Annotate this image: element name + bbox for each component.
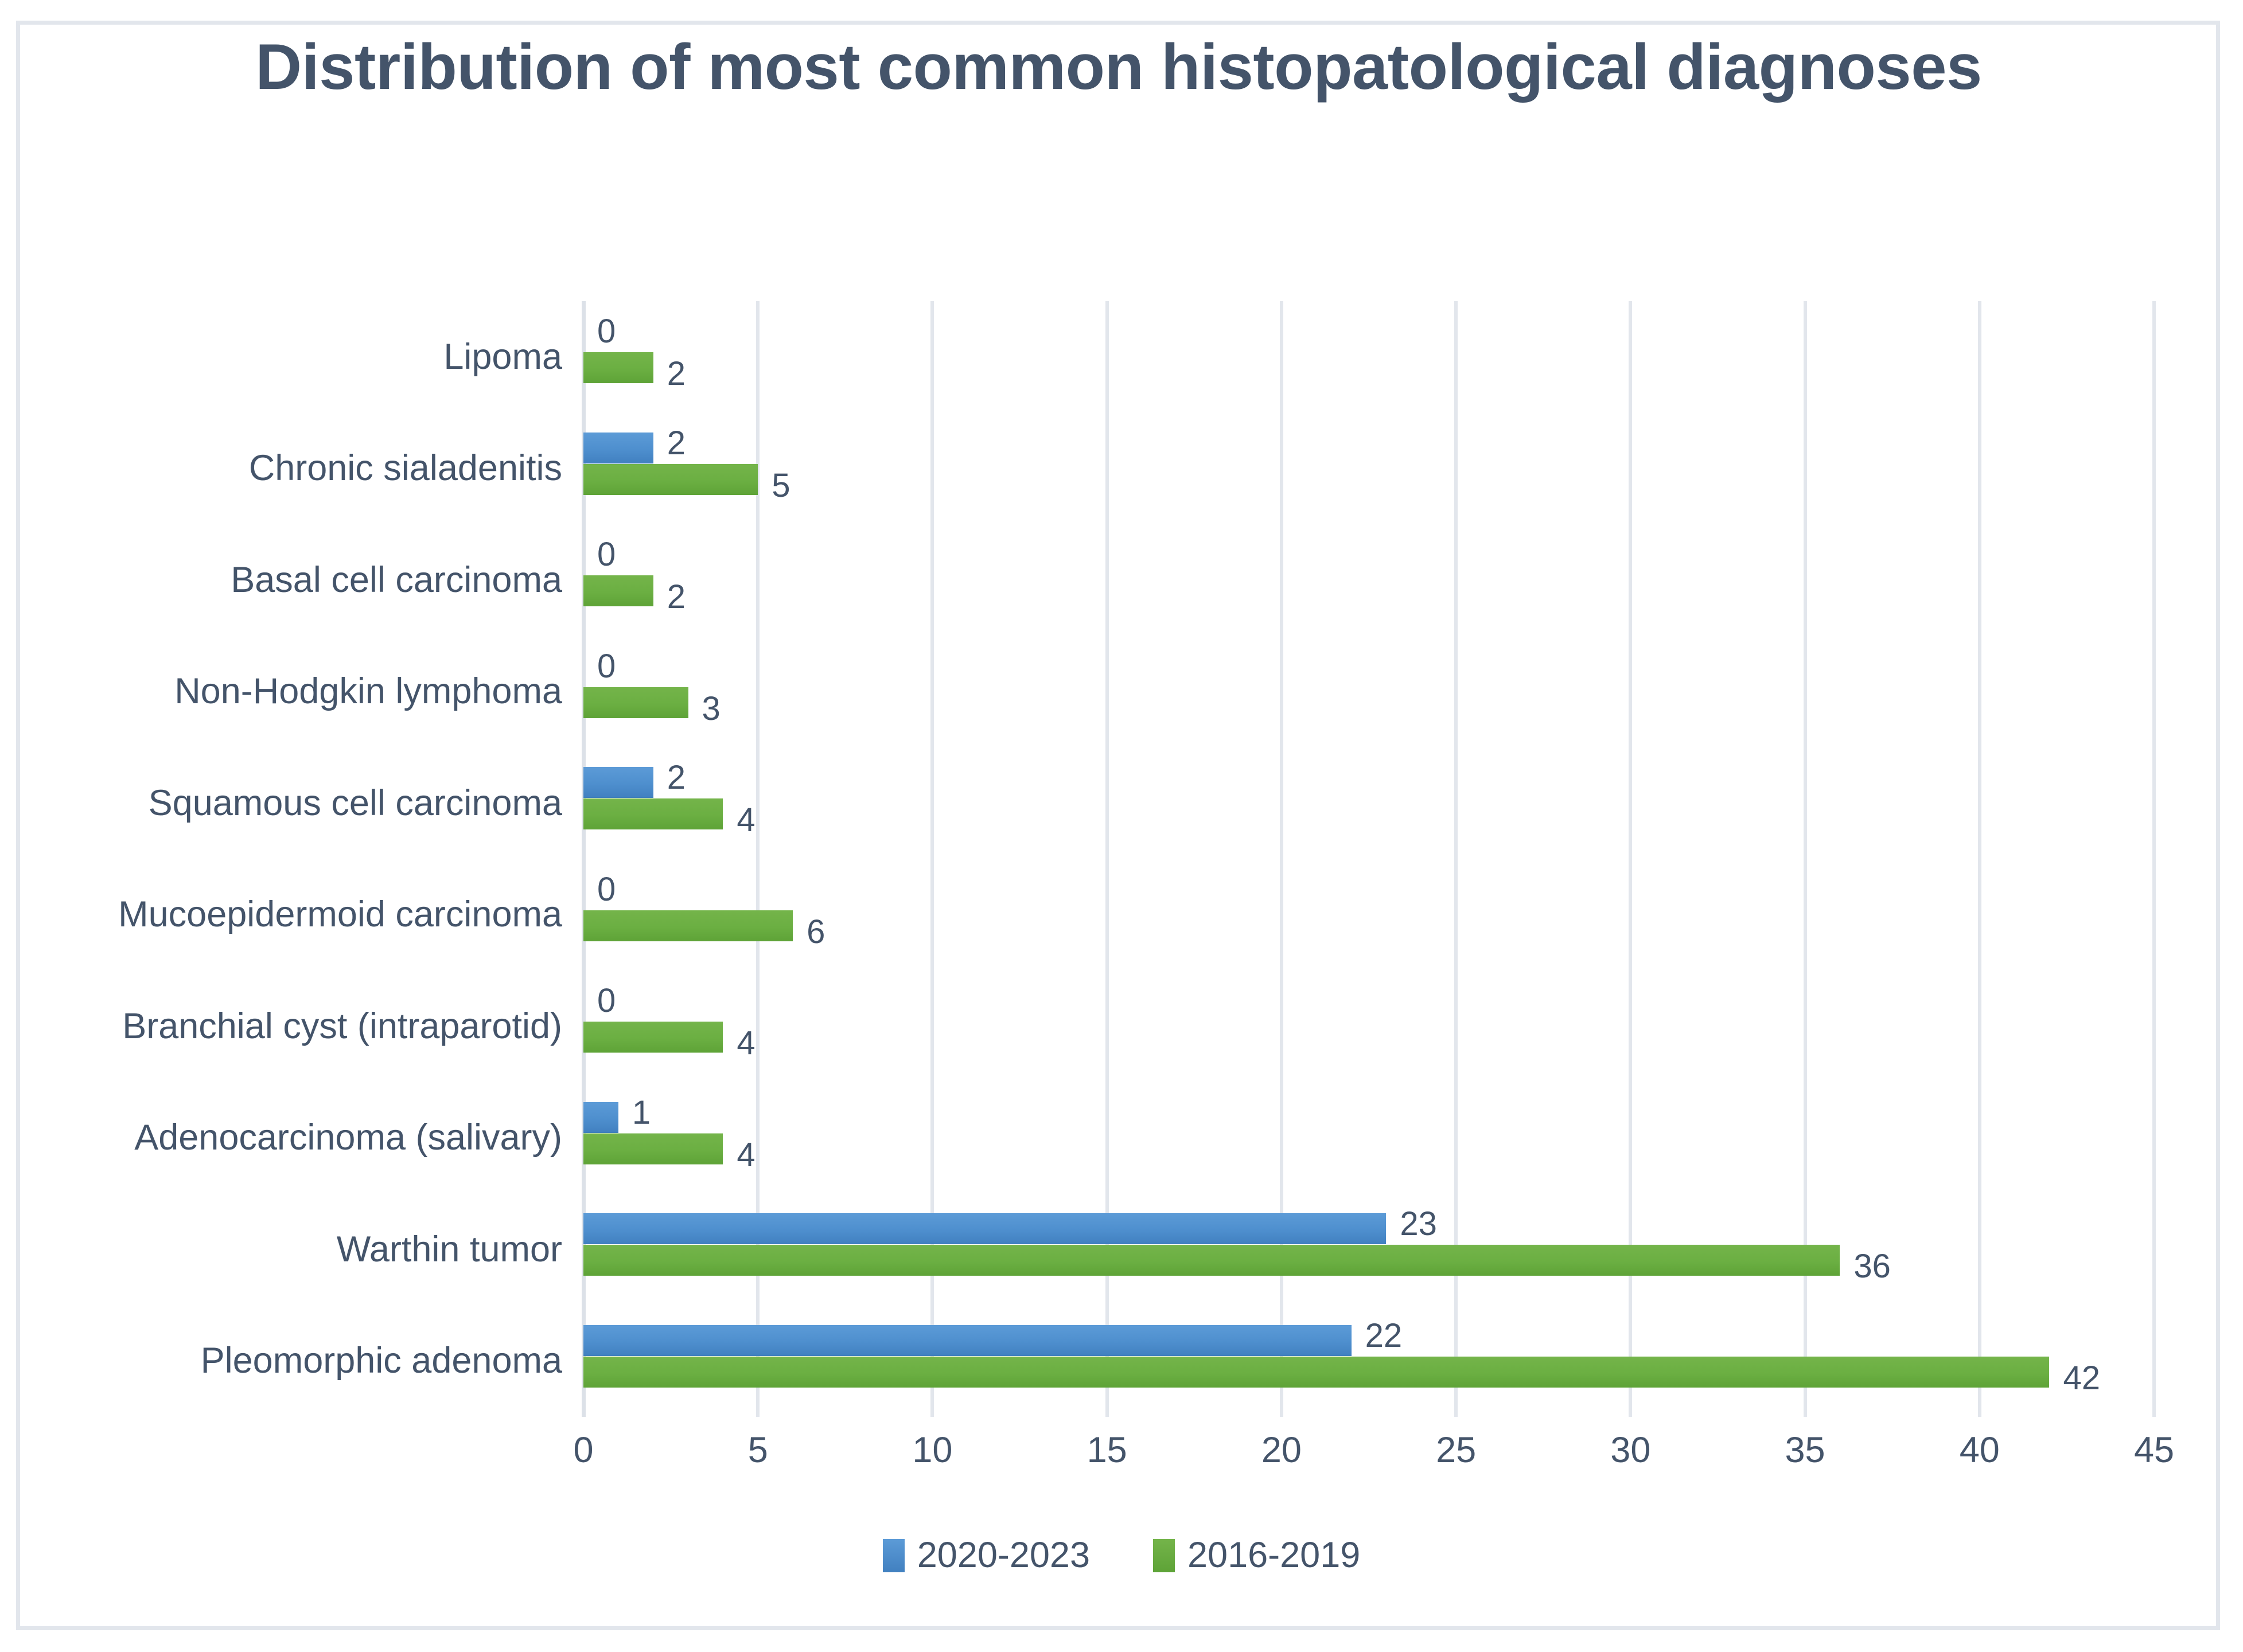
plot-area: 022502032406041423362242 (583, 301, 2154, 1417)
bar-value-label: 42 (2063, 1362, 2100, 1395)
bar-group: 2336 (583, 1194, 2154, 1306)
bar-value-label: 5 (772, 469, 790, 502)
chart-title: Distribution of most common histopatolog… (241, 28, 1996, 107)
category-label: Chronic sialadenitis (11, 450, 562, 486)
chart-legend: 2020-20232016-2019 (0, 1537, 2243, 1573)
category-label-row: Squamous cell carcinoma (11, 747, 562, 859)
bar-series-2020-2023 (583, 1325, 1352, 1356)
category-label: Mucoepidermoid carcinoma (11, 897, 562, 933)
bar-value-label: 22 (1365, 1319, 1403, 1353)
bar-group: 25 (583, 413, 2154, 525)
category-label-row: Mucoepidermoid carcinoma (11, 859, 562, 971)
category-label-row: Pleomorphic adenoma (11, 1306, 562, 1417)
bar-value-label: 0 (597, 984, 616, 1018)
legend-label: 2016-2019 (1187, 1537, 1360, 1573)
bar-value-label: 0 (597, 538, 616, 571)
bar-value-label: 23 (1400, 1207, 1437, 1241)
category-axis-labels: LipomaChronic sialadenitisBasal cell car… (11, 301, 562, 1417)
category-label: Non-Hodgkin lymphoma (11, 673, 562, 710)
legend-item[interactable]: 2016-2019 (1153, 1537, 1360, 1573)
category-label: Warthin tumor (11, 1232, 562, 1268)
category-label-row: Adenocarcinoma (salivary) (11, 1082, 562, 1194)
x-tick-label: 15 (1087, 1432, 1127, 1468)
bar-value-label: 4 (737, 1139, 755, 1172)
bar-series-2020-2023 (583, 433, 653, 463)
category-label-row: Basal cell carcinoma (11, 524, 562, 636)
category-label-row: Non-Hodgkin lymphoma (11, 636, 562, 748)
bar-value-label: 2 (667, 761, 686, 794)
category-label: Adenocarcinoma (salivary) (11, 1120, 562, 1156)
category-label: Lipoma (11, 339, 562, 375)
x-tick-label: 45 (2134, 1432, 2174, 1468)
bar-series-2016-2019 (583, 1357, 2049, 1388)
bar-series-2016-2019 (583, 687, 688, 718)
bar-value-label: 36 (1853, 1250, 1891, 1283)
bar-group: 14 (583, 1082, 2154, 1194)
bar-series-2016-2019 (583, 910, 793, 941)
bar-group: 03 (583, 636, 2154, 748)
bar-value-label: 3 (702, 692, 721, 726)
x-tick-label: 5 (748, 1432, 768, 1468)
x-tick-label: 25 (1436, 1432, 1476, 1468)
bar-value-label: 2 (667, 427, 686, 460)
category-label: Basal cell carcinoma (11, 562, 562, 598)
bar-series-2016-2019 (583, 1245, 1840, 1276)
bar-value-label: 4 (737, 1027, 755, 1060)
bar-series-2016-2019 (583, 1022, 723, 1053)
category-label: Pleomorphic adenoma (11, 1343, 562, 1379)
legend-swatch-green-icon (1153, 1539, 1175, 1572)
bar-series-2020-2023 (583, 767, 653, 798)
x-tick-label: 10 (912, 1432, 952, 1468)
bar-group: 04 (583, 971, 2154, 1082)
bar-group: 24 (583, 747, 2154, 859)
bar-series-2016-2019 (583, 1133, 723, 1164)
bar-group: 06 (583, 859, 2154, 971)
bar-series-2016-2019 (583, 464, 758, 495)
bar-series-2020-2023 (583, 1213, 1386, 1244)
category-label: Squamous cell carcinoma (11, 785, 562, 821)
x-tick-label: 0 (573, 1432, 593, 1468)
legend-label: 2020-2023 (917, 1537, 1090, 1573)
bar-value-label: 2 (667, 580, 686, 614)
category-label-row: Warthin tumor (11, 1194, 562, 1306)
x-tick-label: 30 (1610, 1432, 1650, 1468)
category-label-row: Branchial cyst (intraparotid) (11, 971, 562, 1082)
x-tick-label: 20 (1261, 1432, 1302, 1468)
bar-value-label: 0 (597, 650, 616, 683)
bar-value-label: 4 (737, 804, 755, 837)
x-axis-tick-labels: 051015202530354045 (583, 1432, 2154, 1484)
bar-value-label: 2 (667, 357, 686, 391)
bar-series-2016-2019 (583, 575, 653, 606)
bar-series-2020-2023 (583, 1102, 618, 1133)
bar-value-label: 0 (597, 315, 616, 348)
bar-group: 2242 (583, 1306, 2154, 1417)
chart-page: Distribution of most common histopatolog… (0, 0, 2243, 1652)
bar-value-label: 1 (632, 1096, 651, 1129)
category-label: Branchial cyst (intraparotid) (11, 1008, 562, 1045)
bar-group: 02 (583, 301, 2154, 413)
bar-series-2016-2019 (583, 798, 723, 829)
legend-item[interactable]: 2020-2023 (883, 1537, 1090, 1573)
bar-value-label: 6 (807, 915, 825, 949)
x-tick-label: 40 (1960, 1432, 2000, 1468)
category-label-row: Chronic sialadenitis (11, 413, 562, 525)
x-tick-label: 35 (1785, 1432, 1825, 1468)
bar-series-2016-2019 (583, 352, 653, 383)
legend-swatch-blue-icon (883, 1539, 905, 1572)
bar-value-label: 0 (597, 873, 616, 906)
bar-group: 02 (583, 524, 2154, 636)
category-label-row: Lipoma (11, 301, 562, 413)
